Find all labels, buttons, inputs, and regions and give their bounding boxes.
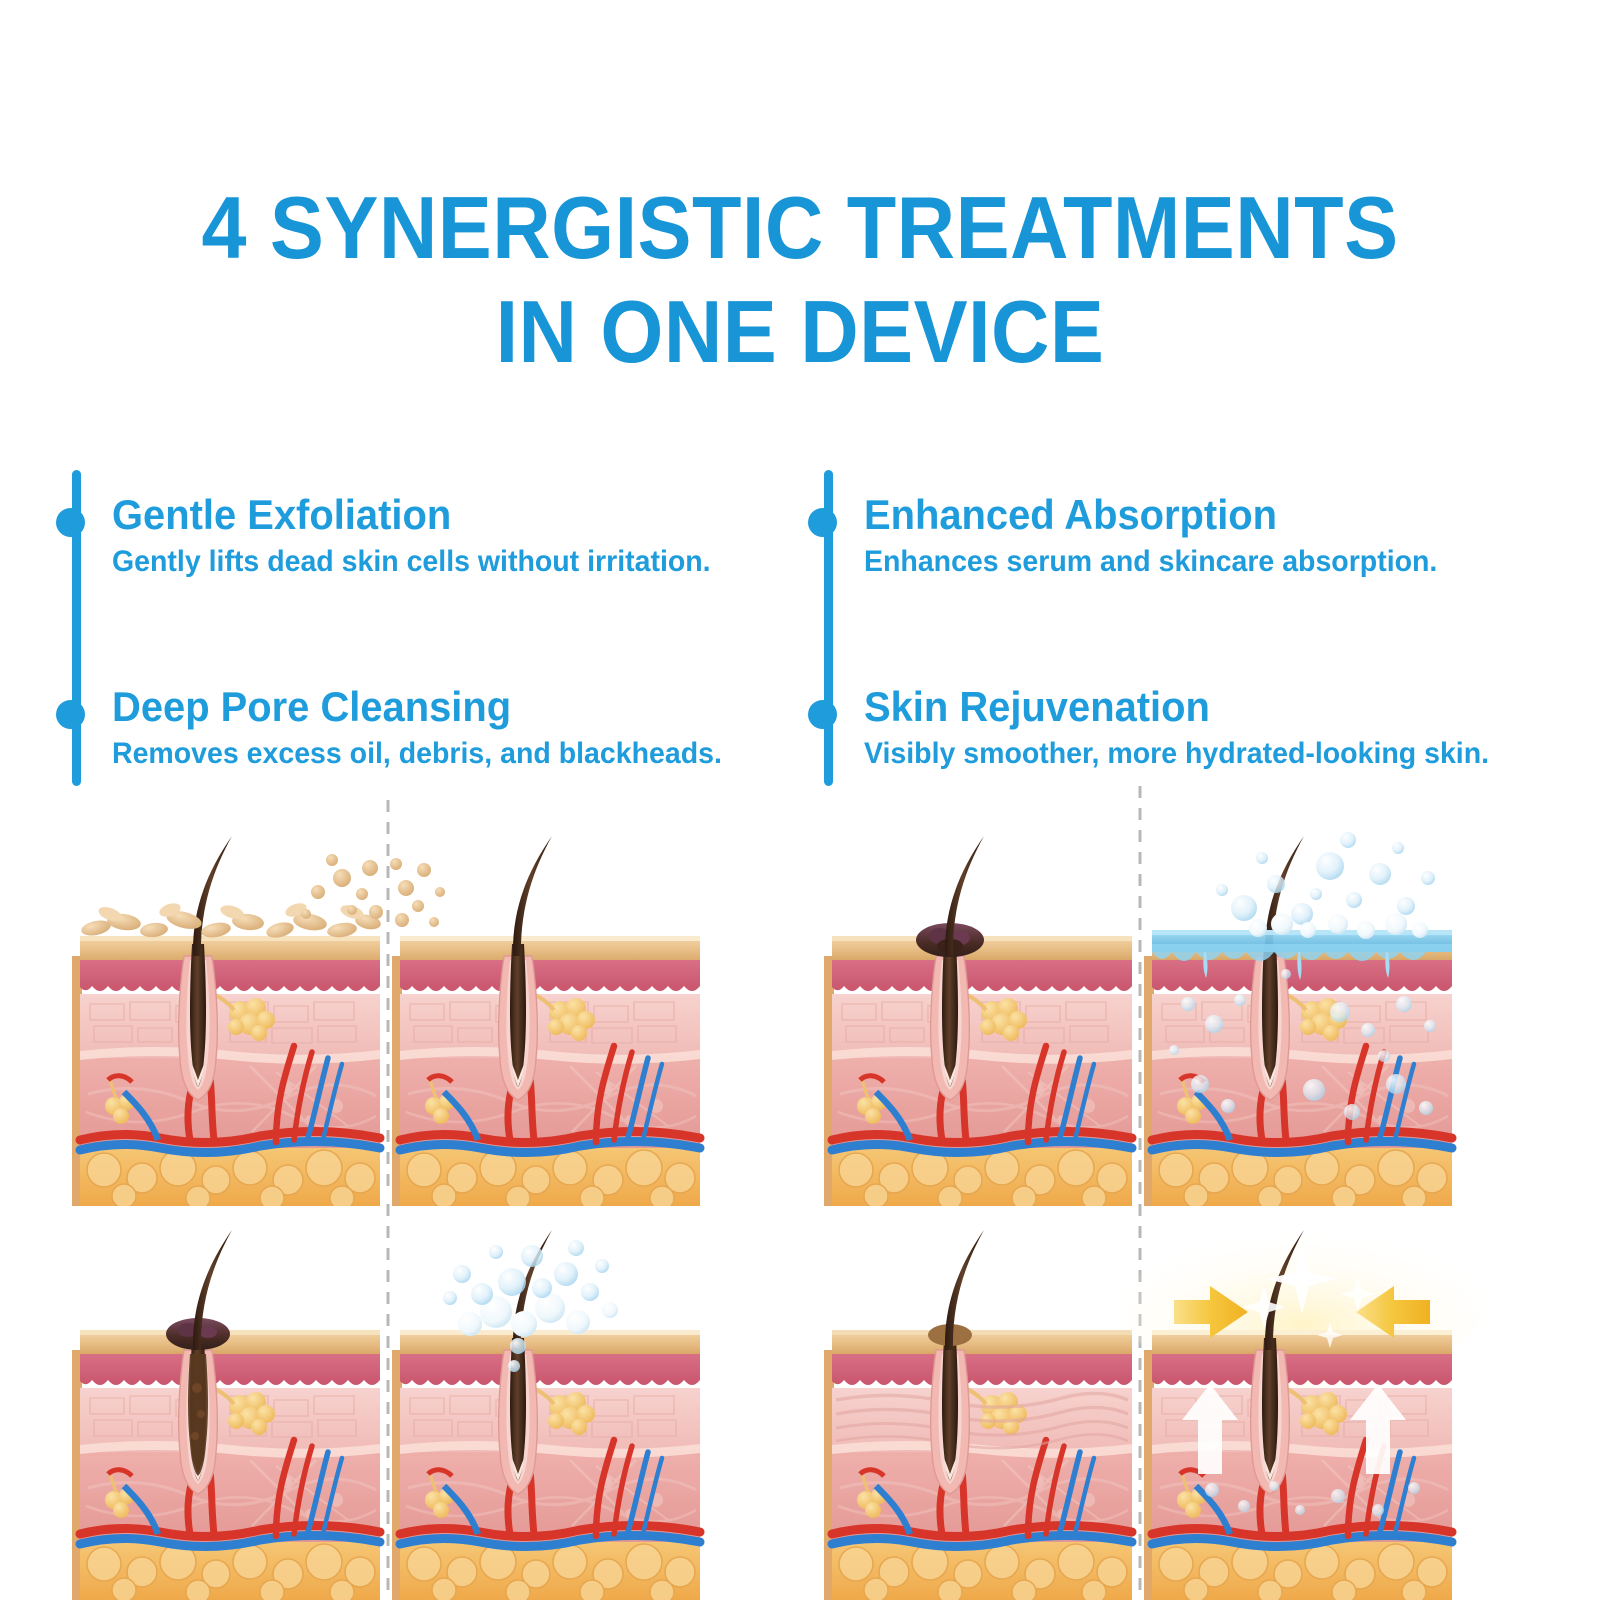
feature-skin-rejuvenation: Skin Rejuvenation Visibly smoother, more… (864, 682, 1578, 774)
page-title-line-2: IN ONE DEVICE (64, 280, 1536, 384)
feature-title: Gentle Exfoliation (112, 490, 790, 540)
exfoliation-diagram (70, 786, 710, 1206)
rail-dot-icon (56, 508, 85, 537)
feature-column-right: Enhanced Absorption Enhances serum and s… (818, 462, 1578, 792)
rail-dot-icon (808, 508, 837, 537)
page-title-line-1: 4 SYNERGISTIC TREATMENTS (64, 176, 1536, 280)
feature-title: Enhanced Absorption (864, 490, 1542, 540)
residual-flakes-icon (390, 858, 445, 927)
infographic-page: 4 SYNERGISTIC TREATMENTS IN ONE DEVICE G… (0, 0, 1600, 1600)
dead-skin-flakes-icon (80, 901, 382, 941)
absorption-diagram (822, 786, 1506, 1206)
feature-title: Deep Pore Cleansing (112, 682, 790, 732)
feature-deep-pore-cleansing: Deep Pore Cleansing Removes excess oil, … (112, 682, 826, 774)
rail-dot-icon (56, 700, 85, 729)
water-bubbles-icon (1216, 832, 1435, 939)
page-title: 4 SYNERGISTIC TREATMENTS IN ONE DEVICE (0, 176, 1600, 384)
rejuvenation-diagram (822, 1204, 1506, 1600)
feature-column-left: Gentle Exfoliation Gently lifts dead ski… (66, 462, 826, 792)
feature-enhanced-absorption: Enhanced Absorption Enhances serum and s… (864, 490, 1578, 582)
feature-description: Gently lifts dead skin cells without irr… (112, 542, 790, 582)
feature-description: Enhances serum and skincare absorption. (864, 542, 1542, 582)
feature-gentle-exfoliation: Gentle Exfoliation Gently lifts dead ski… (112, 490, 826, 582)
rail-dot-icon (808, 700, 837, 729)
feature-description: Removes excess oil, debris, and blackhea… (112, 734, 790, 774)
feature-description: Visibly smoother, more hydrated-looking … (864, 734, 1542, 774)
feature-title: Skin Rejuvenation (864, 682, 1542, 732)
pore-cleansing-diagram (70, 1204, 710, 1600)
